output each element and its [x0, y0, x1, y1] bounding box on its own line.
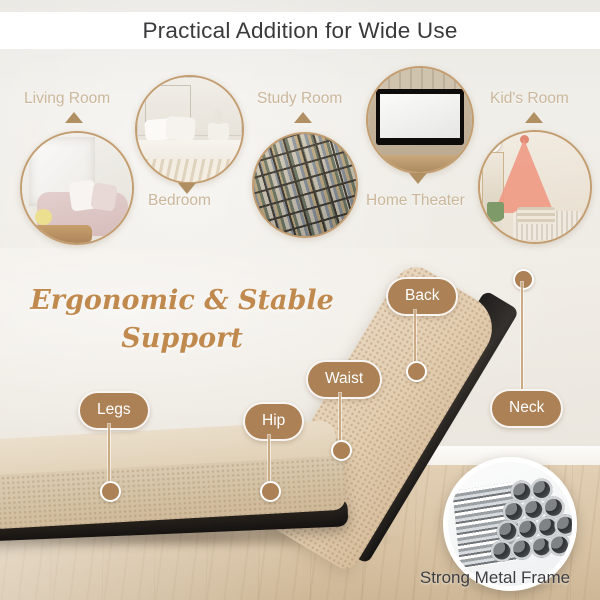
- headline-line-2: Support: [22, 320, 342, 358]
- callout-dot: [260, 481, 281, 502]
- bedroom-art: [137, 77, 242, 182]
- callout-leader-line: [108, 424, 110, 486]
- metal-tube-stack: [452, 477, 568, 572]
- infographic-canvas: Practical Addition for Wide Use Living R…: [0, 0, 600, 600]
- triangle-up-icon: [525, 112, 543, 123]
- study-room-art: [254, 134, 356, 236]
- kids-room-art: [480, 132, 590, 242]
- headline-line-1: Ergonomic & Stable: [22, 282, 342, 320]
- room-thumb-living-room[interactable]: [20, 131, 134, 245]
- callout-label-hip[interactable]: Hip: [243, 402, 304, 441]
- title-band: Practical Addition for Wide Use: [0, 12, 600, 49]
- callout-label-neck[interactable]: Neck: [490, 389, 563, 428]
- callout-label-waist[interactable]: Waist: [306, 360, 382, 399]
- room-thumb-home-theater[interactable]: [366, 66, 474, 174]
- callout-dot: [100, 481, 121, 502]
- triangle-up-icon: [294, 112, 312, 123]
- room-label-home-theater: Home Theater: [366, 192, 465, 210]
- callout-dot: [513, 269, 534, 290]
- room-thumb-study-room[interactable]: [252, 132, 358, 238]
- callout-leader-line: [268, 435, 270, 486]
- room-label-bedroom: Bedroom: [148, 192, 211, 210]
- home-theater-art: [368, 68, 472, 172]
- room-label-study-room: Study Room: [257, 90, 342, 108]
- room-thumb-bedroom[interactable]: [135, 75, 244, 184]
- callout-dot: [331, 440, 352, 461]
- page-title: Practical Addition for Wide Use: [142, 18, 457, 44]
- callout-leader-line: [521, 282, 523, 392]
- living-room-art: [22, 133, 132, 243]
- triangle-down-icon: [409, 173, 427, 184]
- callout-label-legs[interactable]: Legs: [78, 391, 150, 430]
- callout-label-back[interactable]: Back: [386, 277, 458, 316]
- metal-frame-caption: Strong Metal Frame: [400, 568, 590, 588]
- room-label-living-room: Living Room: [24, 90, 110, 108]
- headline-block: Ergonomic & Stable Support: [22, 282, 342, 359]
- callout-dot: [406, 361, 427, 382]
- room-thumb-kids-room[interactable]: [478, 130, 592, 244]
- callout-leader-line: [339, 393, 341, 445]
- callout-leader-line: [414, 310, 416, 366]
- triangle-up-icon: [65, 112, 83, 123]
- room-label-kids-room: Kid's Room: [490, 90, 569, 108]
